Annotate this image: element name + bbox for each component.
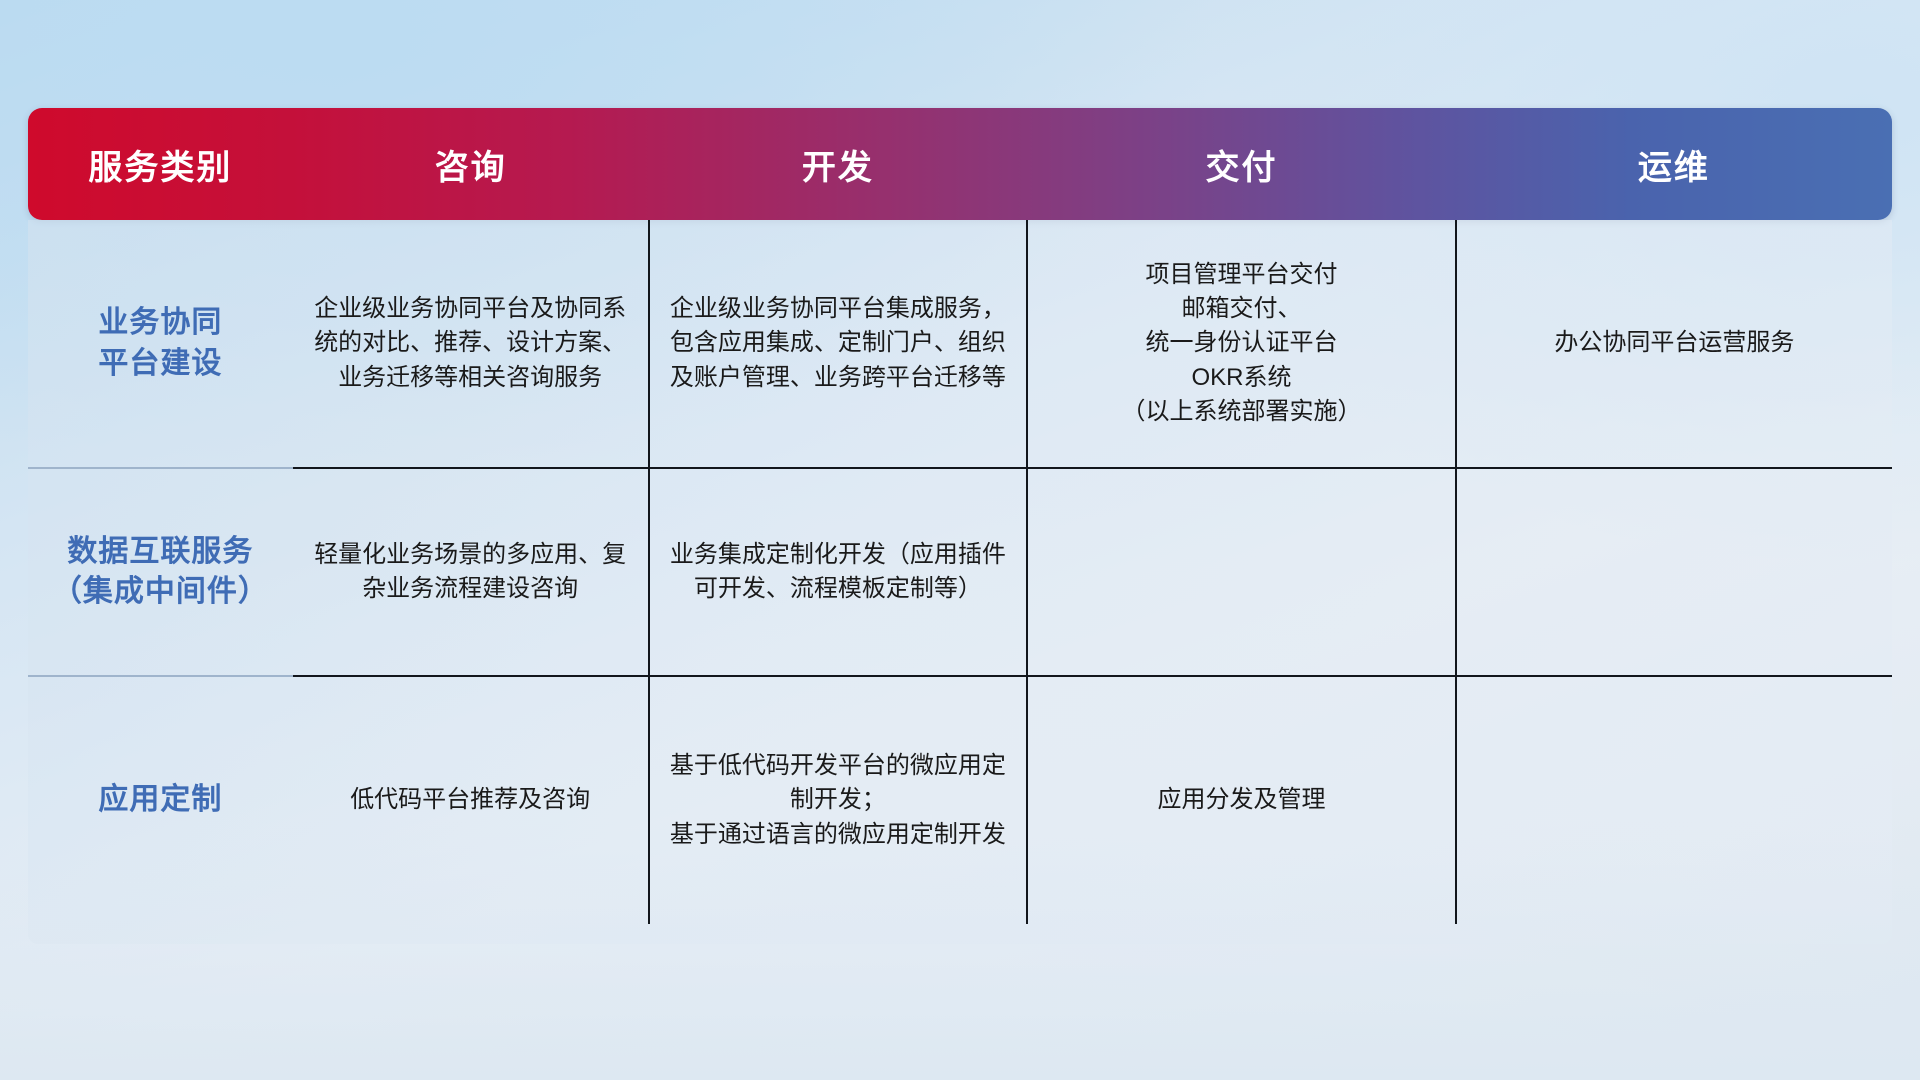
cell-consulting-row3: 低代码平台推荐及咨询 bbox=[293, 676, 649, 924]
table-body: 业务协同 平台建设 企业级业务协同平台及协同系 统的对比、推荐、设计方案、 业务… bbox=[28, 220, 1892, 924]
row-label-data-interconnect-service: 数据互联服务 （集成中间件） bbox=[28, 468, 293, 676]
service-matrix-table: 服务类别 咨询 开发 交付 运维 业务协同 平台建设 企业级业务协同平台及协同系… bbox=[28, 108, 1892, 924]
header-row: 服务类别 咨询 开发 交付 运维 bbox=[28, 108, 1892, 220]
cell-operations-row1: 办公协同平台运营服务 bbox=[1456, 220, 1892, 468]
cell-delivery-row3: 应用分发及管理 bbox=[1027, 676, 1456, 924]
header-cell-service-category: 服务类别 bbox=[28, 108, 293, 220]
header-cell-consulting: 咨询 bbox=[293, 108, 649, 220]
cell-delivery-row1: 项目管理平台交付 邮箱交付、 统一身份认证平台 OKR系统 （以上系统部署实施） bbox=[1027, 220, 1456, 468]
table-row: 数据互联服务 （集成中间件） 轻量化业务场景的多应用、复 杂业务流程建设咨询 业… bbox=[28, 468, 1892, 676]
row-label-business-collaboration: 业务协同 平台建设 bbox=[28, 220, 293, 468]
slide-canvas: 服务类别 咨询 开发 交付 运维 业务协同 平台建设 企业级业务协同平台及协同系… bbox=[0, 0, 1920, 1080]
cell-consulting-row2: 轻量化业务场景的多应用、复 杂业务流程建设咨询 bbox=[293, 468, 649, 676]
row-label-application-customization: 应用定制 bbox=[28, 676, 293, 924]
cell-delivery-row2 bbox=[1027, 468, 1456, 676]
cell-development-row3: 基于低代码开发平台的微应用定 制开发； 基于通过语言的微应用定制开发 bbox=[649, 676, 1027, 924]
cell-operations-row2 bbox=[1456, 468, 1892, 676]
cell-development-row2: 业务集成定制化开发（应用插件 可开发、流程模板定制等） bbox=[649, 468, 1027, 676]
service-matrix-table-wrapper: 服务类别 咨询 开发 交付 运维 业务协同 平台建设 企业级业务协同平台及协同系… bbox=[28, 108, 1892, 924]
header-cell-delivery: 交付 bbox=[1027, 108, 1456, 220]
table-row: 应用定制 低代码平台推荐及咨询 基于低代码开发平台的微应用定 制开发； 基于通过… bbox=[28, 676, 1892, 924]
header-cell-operations: 运维 bbox=[1456, 108, 1892, 220]
table-row: 业务协同 平台建设 企业级业务协同平台及协同系 统的对比、推荐、设计方案、 业务… bbox=[28, 220, 1892, 468]
cell-development-row1: 企业级业务协同平台集成服务， 包含应用集成、定制门户、组织 及账户管理、业务跨平… bbox=[649, 220, 1027, 468]
table-header: 服务类别 咨询 开发 交付 运维 bbox=[28, 108, 1892, 220]
header-cell-development: 开发 bbox=[649, 108, 1027, 220]
cell-consulting-row1: 企业级业务协同平台及协同系 统的对比、推荐、设计方案、 业务迁移等相关咨询服务 bbox=[293, 220, 649, 468]
cell-operations-row3 bbox=[1456, 676, 1892, 924]
